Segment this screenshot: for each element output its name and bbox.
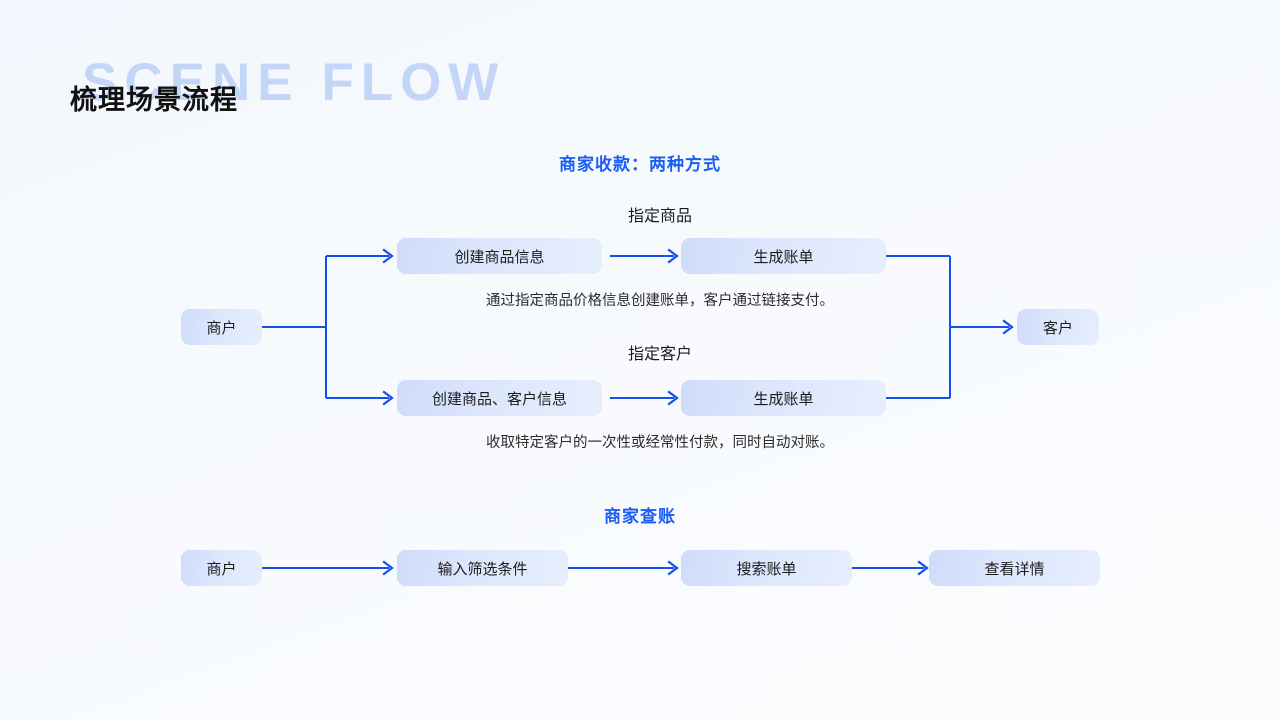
- branch-heading-goods: 指定商品: [549, 202, 771, 226]
- node-create-product-customer-info[interactable]: 创建商品、客户信息: [397, 380, 602, 416]
- connector-query-2: [568, 562, 677, 574]
- section-heading-merchant-query: 商家查账: [0, 502, 1280, 527]
- page-title: 梳理场景流程: [70, 78, 238, 117]
- connector-branch1-node1-node2: [610, 250, 677, 262]
- node-generate-bill-customer[interactable]: 生成账单: [681, 380, 886, 416]
- node-create-product-info[interactable]: 创建商品信息: [397, 238, 602, 274]
- branch-heading-customer: 指定客户: [549, 340, 771, 364]
- node-customer-target[interactable]: 客户: [1017, 309, 1099, 345]
- node-query-filter-input[interactable]: 输入筛选条件: [397, 550, 568, 586]
- connector-query-3: [852, 562, 927, 574]
- branch-caption-customer: 收取特定客户的一次性或经常性付款，同时自动对账。: [390, 431, 930, 452]
- node-query-search-bill[interactable]: 搜索账单: [681, 550, 852, 586]
- branch-caption-goods: 通过指定商品价格信息创建账单，客户通过链接支付。: [390, 289, 930, 310]
- page-title-block: SCENE FLOW 梳理场景流程: [70, 52, 590, 122]
- connector-merge-to-customer: [886, 256, 1012, 398]
- connector-query-1: [262, 562, 392, 574]
- node-merchant-source[interactable]: 商户: [181, 309, 262, 345]
- section-heading-merchant-collect: 商家收款：两种方式: [0, 150, 1280, 175]
- node-query-view-detail[interactable]: 查看详情: [929, 550, 1100, 586]
- node-query-merchant[interactable]: 商户: [181, 550, 262, 586]
- connector-branch2-node1-node2: [610, 392, 677, 404]
- connector-merchant-split: [262, 250, 392, 404]
- node-generate-bill-goods[interactable]: 生成账单: [681, 238, 886, 274]
